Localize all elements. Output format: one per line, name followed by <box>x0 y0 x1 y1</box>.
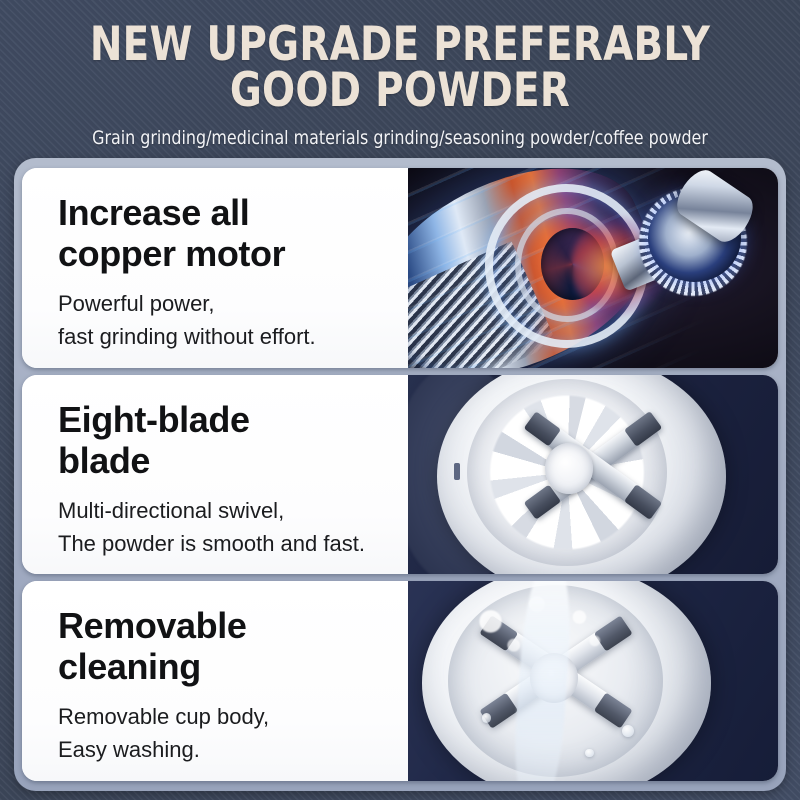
feature-heading-line-2: blade <box>58 440 408 481</box>
feature-card-eight-blade: Eight-blade blade Multi-directional swiv… <box>22 375 778 575</box>
feature-subtext-line-1: Multi-directional swivel, <box>58 494 408 527</box>
feature-heading-line-1: Increase all <box>58 192 408 233</box>
feature-subtext-line-1: Removable cup body, <box>58 700 408 733</box>
feature-subtext: Multi-directional swivel, The powder is … <box>58 494 408 560</box>
feature-card-removable-cleaning: Removable cleaning Removable cup body, E… <box>22 581 778 781</box>
feature-cards-frame: Increase all copper motor Powerful power… <box>14 158 786 791</box>
feature-subtext-line-2: The powder is smooth and fast. <box>58 527 408 560</box>
feature-heading: Removable cleaning <box>58 605 408 687</box>
blade-center-hub <box>545 443 593 495</box>
feature-subtext-line-2: Easy washing. <box>58 733 408 766</box>
feature-card-text: Eight-blade blade Multi-directional swiv… <box>22 375 408 575</box>
cup-side-tab <box>454 463 460 481</box>
page-title: NEW UPGRADE PREFERABLY GOOD POWDER <box>32 22 768 114</box>
blade-illustration <box>408 375 778 575</box>
feature-subtext-line-1: Powerful power, <box>58 287 408 320</box>
feature-card-text: Removable cleaning Removable cup body, E… <box>22 581 408 781</box>
feature-card-text: Increase all copper motor Powerful power… <box>22 168 408 368</box>
eight-blade-assembly-photo <box>408 375 778 575</box>
header: NEW UPGRADE PREFERABLY GOOD POWDER Grain… <box>0 0 800 158</box>
washing-illustration <box>408 581 778 781</box>
feature-heading-line-2: cleaning <box>58 646 408 687</box>
feature-cards-list: Increase all copper motor Powerful power… <box>22 168 778 781</box>
product-infographic: NEW UPGRADE PREFERABLY GOOD POWDER Grain… <box>0 0 800 800</box>
feature-heading-line-1: Eight-blade <box>58 399 408 440</box>
title-line-2: GOOD POWDER <box>32 68 768 114</box>
feature-subtext-line-2: fast grinding without effort. <box>58 320 408 353</box>
washing-cup-photo <box>408 581 778 781</box>
water-droplet <box>585 749 593 757</box>
feature-subtext: Removable cup body, Easy washing. <box>58 700 408 766</box>
feature-card-copper-motor: Increase all copper motor Powerful power… <box>22 168 778 368</box>
feature-heading-line-1: Removable <box>58 605 408 646</box>
copper-motor-photo <box>408 168 778 368</box>
feature-subtext: Powerful power, fast grinding without ef… <box>58 287 408 353</box>
page-subtitle: Grain grinding/medicinal materials grind… <box>28 127 772 149</box>
feature-heading: Increase all copper motor <box>58 192 408 274</box>
feature-heading: Eight-blade blade <box>58 399 408 481</box>
feature-heading-line-2: copper motor <box>58 233 408 274</box>
motor-illustration <box>408 168 778 368</box>
